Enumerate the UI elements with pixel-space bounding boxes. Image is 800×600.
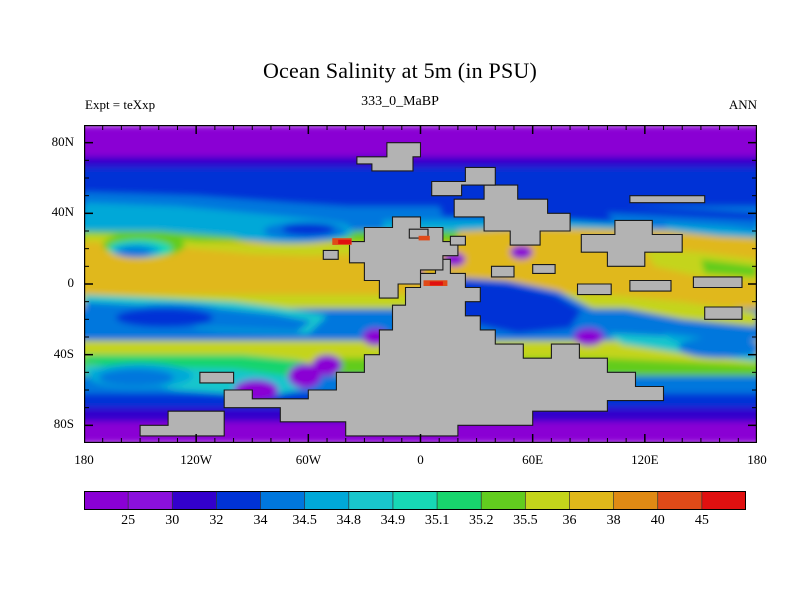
zonal-band	[84, 157, 757, 168]
colorbar-bin	[569, 491, 614, 510]
hypersaline-patch	[419, 236, 430, 241]
land-mask	[492, 266, 515, 277]
colorbar-tick-label: 45	[674, 513, 730, 529]
colorbar-bin	[437, 491, 482, 510]
zonal-band	[84, 167, 757, 186]
colorbar	[84, 491, 746, 510]
land-mask	[323, 250, 338, 259]
colorbar-bin	[261, 491, 306, 510]
y-axis-tick-label: 80S	[28, 416, 74, 432]
contour-blob	[99, 369, 174, 387]
x-axis-tick-label: 120W	[166, 452, 226, 468]
colorbar-bin	[216, 491, 261, 510]
x-axis-tick-label: 180	[54, 452, 114, 468]
x-axis-tick-label: 120E	[615, 452, 675, 468]
y-axis-tick-label: 40S	[28, 346, 74, 362]
colorbar-bin	[349, 491, 394, 510]
hypersaline-patch	[338, 240, 351, 244]
colorbar-bin	[614, 491, 659, 510]
colorbar-bin	[128, 491, 173, 510]
x-axis-tick-label: 0	[391, 452, 451, 468]
colorbar-bin	[525, 491, 570, 510]
land-mask	[630, 281, 671, 292]
land-mask	[533, 265, 555, 274]
contour-blob	[125, 313, 192, 326]
colorbar-bin	[305, 491, 350, 510]
x-axis-tick-label: 60W	[278, 452, 338, 468]
colorbar-bin	[172, 491, 217, 510]
period-label: ANN	[729, 97, 757, 113]
contour-map	[84, 125, 757, 443]
y-axis-tick-label: 0	[28, 275, 74, 291]
x-axis-tick-label: 60E	[503, 452, 563, 468]
fresh-water-pool	[510, 245, 532, 259]
land-mask	[705, 307, 742, 319]
colorbar-bin	[702, 491, 746, 510]
land-mask	[693, 277, 742, 288]
page-title: Ocean Salinity at 5m (in PSU)	[0, 58, 800, 84]
figure-canvas: Ocean Salinity at 5m (in PSU) 333_0_MaBP…	[0, 0, 800, 600]
hypersaline-patch	[430, 282, 443, 286]
land-mask	[578, 284, 612, 295]
contour-blob	[118, 247, 152, 257]
land-mask	[450, 236, 465, 245]
y-axis-tick-label: 40N	[28, 204, 74, 220]
colorbar-bin	[84, 491, 129, 510]
x-axis-tick-label: 180	[727, 452, 787, 468]
land-mask	[200, 372, 234, 383]
y-axis-tick-label: 80N	[28, 134, 74, 150]
colorbar-bin	[481, 491, 526, 510]
colorbar-bin	[658, 491, 703, 510]
colorbar-bin	[393, 491, 438, 510]
contour-blob	[282, 223, 334, 235]
fresh-water-pool	[574, 328, 604, 346]
land-mask	[630, 196, 705, 203]
map-content	[84, 125, 757, 443]
contour-blob	[679, 337, 758, 358]
experiment-label: Expt = teXxp	[85, 97, 155, 113]
map-plot-area	[84, 125, 757, 443]
colorbar-swatches	[84, 491, 746, 510]
